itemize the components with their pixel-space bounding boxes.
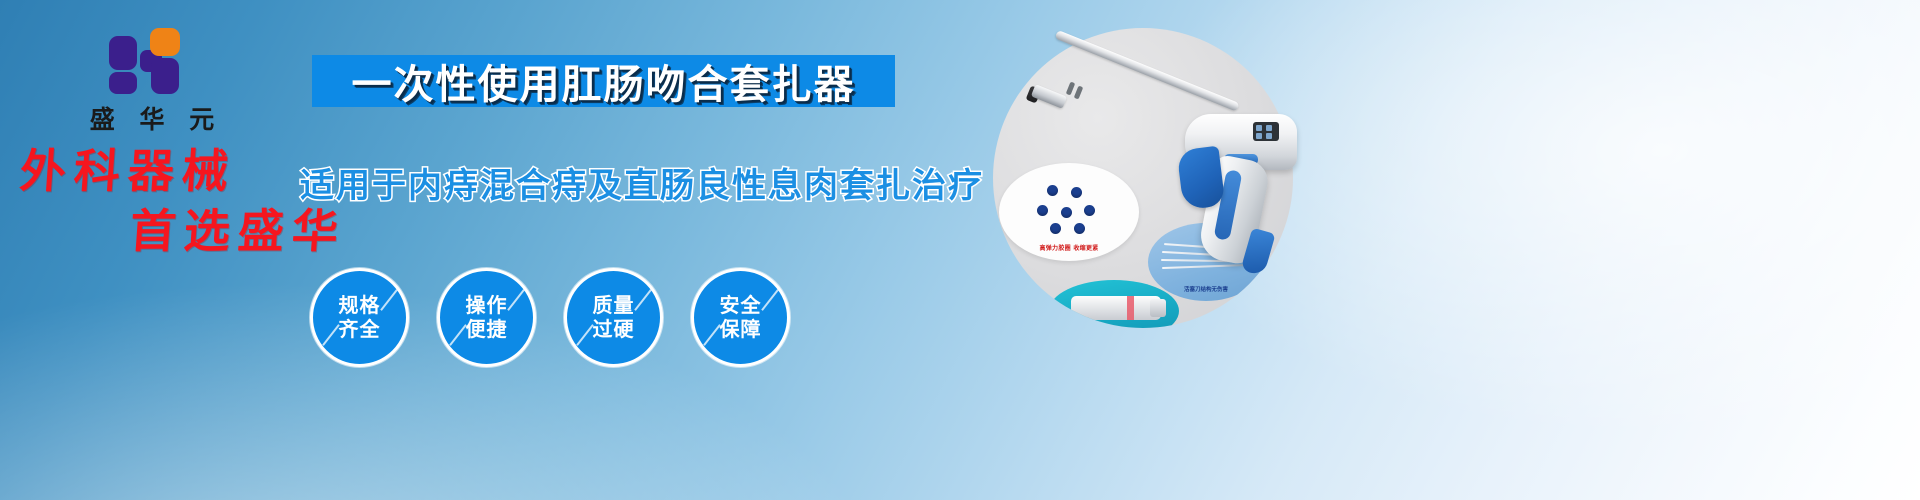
badge-line-2: 保障 [720, 318, 762, 342]
band-dot [1084, 205, 1095, 216]
logo-shape-left-tall [109, 36, 137, 70]
logo-mark-icon [109, 28, 195, 94]
needle-set-inset: 活塞刀结构无伤害 [1148, 223, 1264, 301]
product-photo: 高弹力胶圈 收缩更紧 活塞刀结构无伤害 [993, 28, 1293, 328]
band-dot [1071, 187, 1082, 198]
subtitle: 适用于内痔混合痔及直肠良性息肉套扎治疗 [300, 158, 984, 207]
needle [1164, 243, 1248, 251]
badge-line-2: 齐全 [339, 318, 381, 342]
badge-slash-icon [380, 289, 398, 311]
badge-slash2-icon [576, 324, 594, 346]
badge-slash2-icon [322, 324, 340, 346]
badge-line-1: 操作 [466, 294, 508, 318]
feature-badge-safety[interactable]: 安全 保障 [691, 268, 790, 367]
rubber-band-inset: 高弹力胶圈 收缩更紧 [999, 163, 1139, 261]
calligraphy-slogan: 外科器械 首选盛华 [20, 148, 346, 254]
promo-banner: 盛 华 元 外科器械 首选盛华 一次性使用肛肠吻合套扎器 适用于内痔混合痔及直肠… [0, 0, 1920, 500]
logo-shape-right-tall [151, 58, 179, 94]
feature-badge-quality[interactable]: 质量 过硬 [564, 268, 663, 367]
tube-ring [1127, 296, 1134, 320]
badge-slash-icon [507, 289, 525, 311]
rubber-band-caption: 高弹力胶圈 收缩更紧 [1005, 243, 1133, 252]
brand-logo[interactable]: 盛 华 元 [62, 28, 242, 136]
tube-body [1071, 296, 1161, 320]
needle [1161, 259, 1249, 263]
band-dot [1047, 185, 1058, 196]
headline-bar: 一次性使用肛肠吻合套扎器 [312, 55, 895, 107]
badge-line-2: 便捷 [466, 318, 508, 342]
badge-slash-icon [634, 289, 652, 311]
badge-slash2-icon [449, 324, 467, 346]
logo-shape-orange [150, 28, 180, 56]
badge-line-1: 质量 [593, 294, 635, 318]
badge-line-1: 安全 [720, 294, 762, 318]
page-title: 一次性使用肛肠吻合套扎器 [352, 52, 856, 110]
brand-name: 盛 华 元 [62, 100, 242, 136]
band-dot [1061, 207, 1072, 218]
badge-slash-icon [761, 289, 779, 311]
feature-badge-operation[interactable]: 操作 便捷 [437, 268, 536, 367]
logo-shape-left-bottom [109, 72, 137, 94]
badge-line-1: 规格 [339, 294, 381, 318]
band-dot [1074, 223, 1085, 234]
band-dot [1037, 205, 1048, 216]
band-dot [1050, 223, 1061, 234]
badge-line-2: 过硬 [593, 318, 635, 342]
slogan-line-2: 首选盛华 [128, 208, 347, 254]
tube-tip [1150, 299, 1166, 317]
needle [1162, 251, 1248, 257]
feature-badge-specification[interactable]: 规格 齐全 [310, 268, 409, 367]
feature-badges: 规格 齐全 操作 便捷 质量 过硬 安全 保障 [310, 268, 790, 367]
needle [1162, 264, 1248, 269]
slogan-line-1: 外科器械 [18, 148, 237, 194]
badge-slash2-icon [703, 324, 721, 346]
